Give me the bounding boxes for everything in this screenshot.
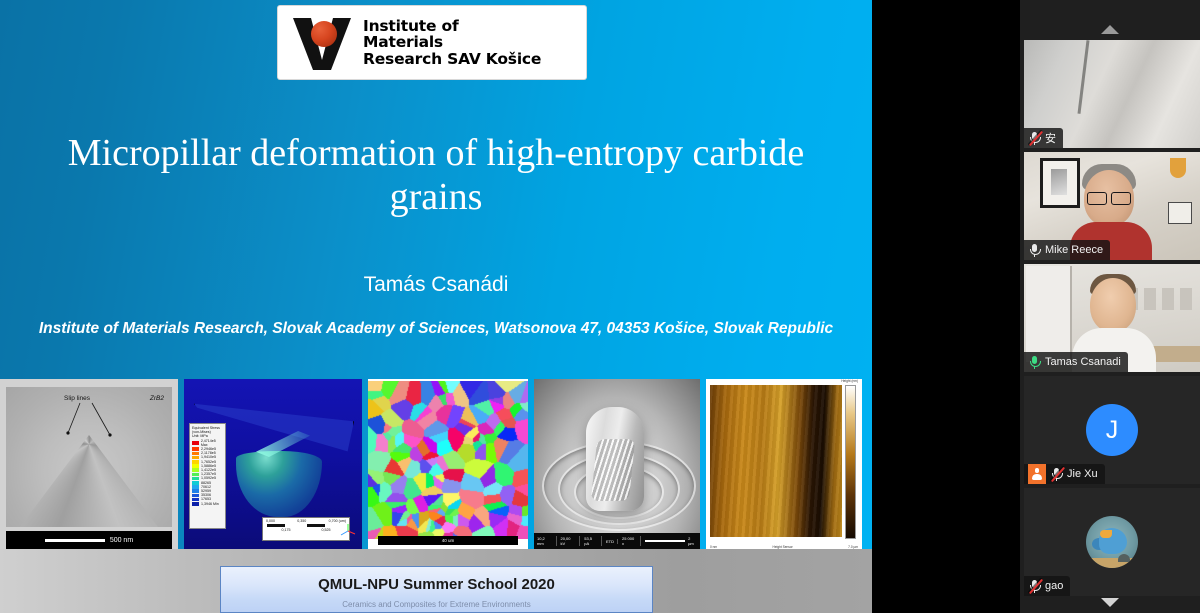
ebsd-scalebar: 40 um bbox=[378, 536, 518, 545]
mic-muted-icon bbox=[1028, 579, 1041, 594]
logo-line-3: Research SAV Košice bbox=[363, 51, 541, 68]
fem-contour-image: Equivalent Stress (von-Mises) Unit: MPa … bbox=[184, 379, 362, 549]
participant-tile-gao[interactable]: gao bbox=[1024, 488, 1200, 596]
fem-legend-swatch bbox=[192, 452, 199, 456]
summer-school-banner: QMUL-NPU Summer School 2020 Ceramics and… bbox=[220, 566, 653, 613]
logo-text-block: Institute of Materials Research SAV Koši… bbox=[363, 18, 541, 68]
participant-name: gao bbox=[1045, 580, 1063, 592]
sem-scalebar-line bbox=[45, 539, 105, 542]
scroll-up-button[interactable] bbox=[1020, 20, 1200, 38]
participant-face bbox=[1090, 278, 1136, 332]
sem-indent-image: Slip lines ZrB2 bbox=[6, 387, 172, 527]
scroll-down-button[interactable] bbox=[1020, 593, 1200, 611]
figure-micropillar: 10,2 mm 20,00 kV 53,5 pA ETD 25 000 x 2 … bbox=[534, 379, 700, 549]
sem-field-mag: 25 000 x bbox=[622, 536, 641, 546]
participant-nameplate: Mike Reece bbox=[1024, 240, 1110, 260]
participant-name: Jie Xu bbox=[1067, 468, 1098, 480]
triangle-down-icon bbox=[1101, 598, 1119, 607]
afm-colorbar bbox=[845, 385, 856, 539]
sem-leader-lines bbox=[6, 387, 172, 527]
fem-stress-plume bbox=[236, 451, 322, 517]
participant-tile-mike-reece[interactable]: Mike Reece bbox=[1024, 152, 1200, 260]
logo-sphere-icon bbox=[311, 21, 337, 47]
fem-legend-value: 1,3946 Min bbox=[201, 502, 219, 506]
participant-nameplate: Tamas Csanadi bbox=[1024, 352, 1128, 372]
fem-legend-swatch bbox=[192, 498, 199, 502]
fem-legend-swatch bbox=[192, 460, 199, 464]
ebsd-orientation-image bbox=[368, 381, 528, 539]
fem-legend-swatch bbox=[192, 464, 199, 468]
fem-legend-swatch bbox=[192, 494, 199, 498]
fem-legend-swatch bbox=[192, 447, 199, 451]
micropillar-sem-image bbox=[534, 379, 700, 549]
participant-tile-安[interactable]: 安 bbox=[1024, 40, 1200, 148]
sem-info-bar: 10,2 mm 20,00 kV 53,5 pA ETD 25 000 x 2 … bbox=[534, 533, 700, 549]
banner-title: QMUL-NPU Summer School 2020 bbox=[221, 576, 652, 593]
fem-legend-swatch bbox=[192, 468, 199, 472]
figure-afm-height: Height (nm) 0 nm Height Sensor 7.0 µm bbox=[706, 379, 862, 549]
fem-legend-swatch bbox=[192, 477, 199, 481]
fem-legend-swatch bbox=[192, 456, 199, 460]
institute-logo: Institute of Materials Research SAV Koši… bbox=[278, 6, 586, 79]
wall-pictures-row bbox=[1126, 288, 1198, 310]
mic-muted-icon bbox=[1028, 131, 1041, 146]
room-door bbox=[1026, 266, 1072, 362]
ebsd-grain-canvas bbox=[368, 381, 528, 539]
mic-unmuted-icon bbox=[1028, 355, 1041, 370]
participant-nameplate: 安 bbox=[1024, 128, 1063, 148]
sem-scalebar: 500 nm bbox=[6, 531, 172, 549]
participant-tile-list: 安Mike ReeceTamas CsanadiJJie Xugao bbox=[1024, 40, 1200, 600]
imr-v-logo-icon bbox=[291, 14, 353, 72]
participant-video-panel: 安Mike ReeceTamas CsanadiJJie Xugao bbox=[1020, 0, 1200, 613]
fem-legend-swatch bbox=[192, 485, 199, 489]
mic-muted-icon bbox=[1050, 467, 1063, 482]
fem-legend-swatch bbox=[192, 502, 199, 506]
slide-title: Micropillar deformation of high-entropy … bbox=[30, 131, 842, 219]
figure-ebsd-map: 40 um bbox=[368, 379, 528, 549]
hanging-lamp bbox=[1170, 158, 1186, 178]
eyeglasses-icon bbox=[1087, 192, 1131, 203]
fem-legend-value: 2,4714e5 Max bbox=[201, 439, 223, 447]
mic-unmuted-icon bbox=[1028, 243, 1041, 258]
fem-tick-minor-0: 0,175 bbox=[282, 528, 291, 532]
fem-legend-swatch bbox=[192, 441, 199, 445]
avatar-initial: J bbox=[1086, 404, 1138, 456]
host-person-icon bbox=[1028, 464, 1046, 484]
shared-screen-area[interactable]: Institute of Materials Research SAV Koši… bbox=[0, 0, 872, 613]
sem-field-curr: 53,5 pA bbox=[584, 536, 602, 546]
fem-tick-0: 0,000 bbox=[266, 519, 275, 523]
sem-scalebar-label: 500 nm bbox=[110, 537, 133, 544]
triangle-up-icon bbox=[1101, 25, 1119, 34]
avatar-image bbox=[1086, 516, 1138, 568]
fem-legend-swatches: 2,4714e5 Max2,2946e52,1178e51,9410e51,76… bbox=[192, 439, 223, 506]
logo-line-2: Materials bbox=[363, 34, 541, 51]
participant-tile-jie-xu[interactable]: JJie Xu bbox=[1024, 376, 1200, 484]
ebsd-scalebar-label: 40 um bbox=[442, 538, 455, 543]
participant-tile-tamas-csanadi[interactable]: Tamas Csanadi bbox=[1024, 264, 1200, 372]
sem-field-det: ETD bbox=[606, 539, 618, 544]
fem-tick-minor-1: 0,525 bbox=[322, 528, 331, 532]
presentation-slide: Institute of Materials Research SAV Koši… bbox=[0, 0, 872, 613]
fem-legend-row: 2,4714e5 Max bbox=[192, 439, 223, 447]
slide-author: Tamás Csanádi bbox=[30, 273, 842, 297]
logo-line-1: Institute of bbox=[363, 18, 541, 35]
fem-legend-swatch bbox=[192, 473, 199, 477]
afm-height-image bbox=[710, 385, 842, 537]
banner-subtitle: Ceramics and Composites for Extreme Envi… bbox=[221, 600, 652, 609]
sem-field-hv: 20,00 kV bbox=[561, 536, 581, 546]
zoom-meeting-window: Institute of Materials Research SAV Koši… bbox=[0, 0, 1200, 613]
figure-fem-stress: Equivalent Stress (von-Mises) Unit: MPa … bbox=[184, 379, 362, 549]
slide-affiliation: Institute of Materials Research, Slovak … bbox=[10, 320, 862, 338]
sem-scalebar-group: 2 µm bbox=[645, 536, 697, 546]
wall-picture-frame bbox=[1040, 158, 1080, 208]
fem-legend-swatch bbox=[192, 489, 199, 493]
fem-axis-scale: 0,000 0,350 0,700 (um) 0 bbox=[262, 517, 350, 541]
fem-legend-swatch bbox=[192, 481, 199, 485]
figure-strip: Slip lines ZrB2 500 nm bbox=[0, 379, 872, 549]
fem-legend: Equivalent Stress (von-Mises) Unit: MPa … bbox=[189, 423, 226, 529]
participant-name: 安 bbox=[1045, 130, 1056, 146]
participant-name: Mike Reece bbox=[1045, 244, 1103, 256]
afm-colorbar-label: Height (nm) bbox=[841, 379, 858, 383]
fem-legend-row: 1,3946 Min bbox=[192, 502, 223, 506]
wall-picture-small bbox=[1168, 202, 1192, 224]
fem-axis-triad-icon bbox=[340, 523, 356, 539]
fem-tick-1: 0,350 bbox=[297, 519, 306, 523]
sem-scalebar-label-2: 2 µm bbox=[688, 536, 697, 546]
pillar-slip-steps bbox=[591, 439, 636, 501]
figure-sem-indent: Slip lines ZrB2 500 nm bbox=[0, 379, 178, 549]
sem-field-wd: 10,2 mm bbox=[537, 536, 557, 546]
participant-name: Tamas Csanadi bbox=[1045, 356, 1121, 368]
sem-scalebar-line-2 bbox=[645, 540, 685, 542]
participant-nameplate: Jie Xu bbox=[1024, 464, 1105, 484]
